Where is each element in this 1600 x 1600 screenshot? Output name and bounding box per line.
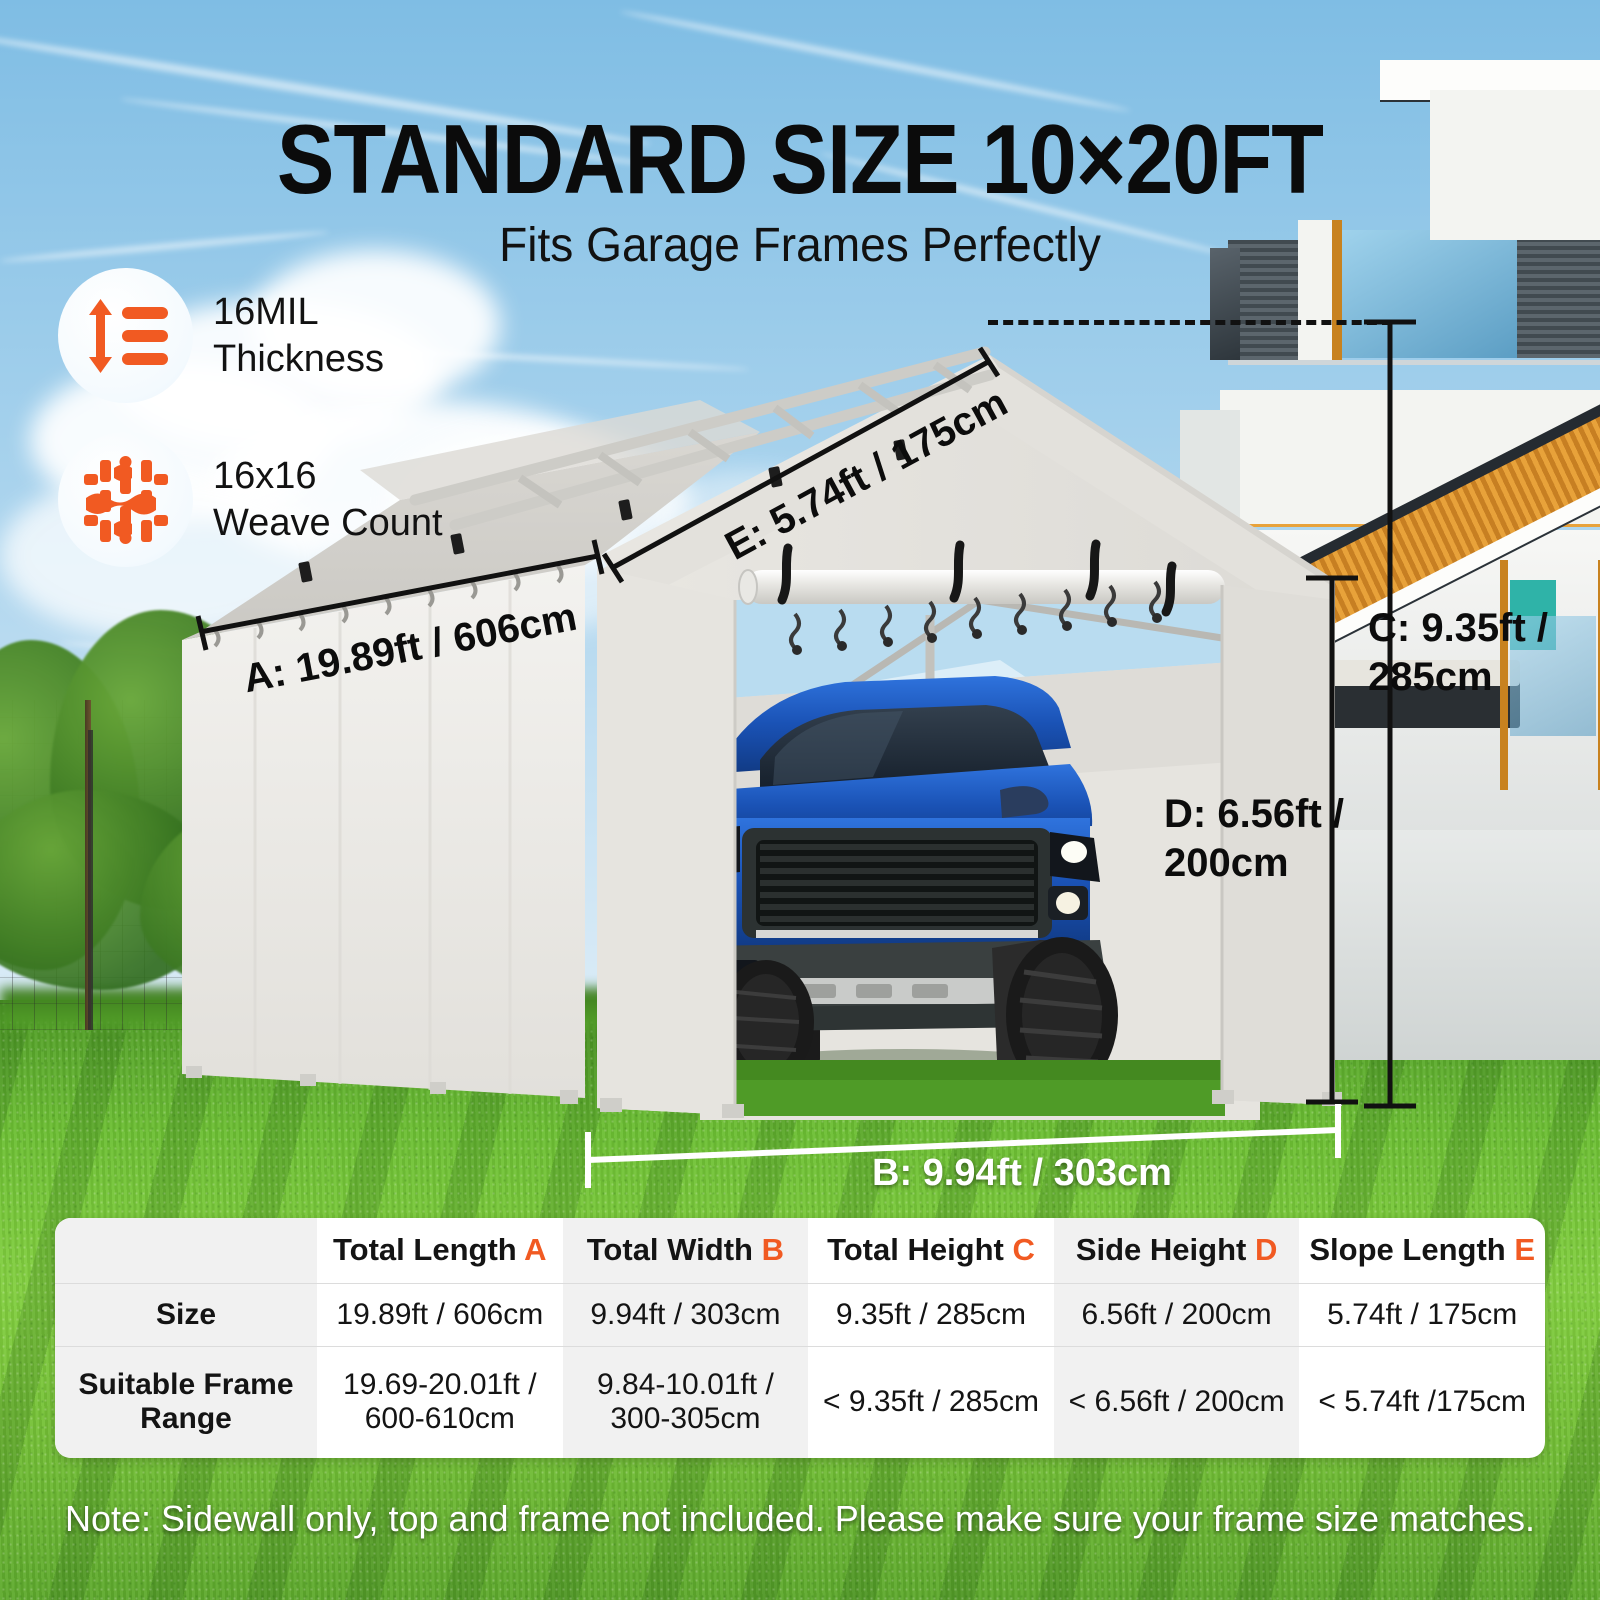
- feature-badge-weave: 16x16 Weave Count: [58, 432, 443, 567]
- table-header-slope-length: Slope Length E: [1299, 1218, 1545, 1283]
- row-label-frame-range: Suitable Frame Range: [55, 1346, 317, 1458]
- accent-letter-d: D: [1255, 1232, 1277, 1267]
- weave-badge-line1: 16x16: [213, 453, 443, 499]
- dimension-label-d-line1: D: 6.56ft /: [1164, 790, 1344, 839]
- range-slope-length: < 5.74ft /175cm: [1299, 1346, 1545, 1458]
- dimension-label-c-line2: 285cm: [1368, 653, 1548, 702]
- feature-badge-thickness: 16MIL Thickness: [58, 268, 384, 403]
- footer-note: Note: Sidewall only, top and frame not i…: [0, 1498, 1600, 1540]
- row-label-size: Size: [55, 1283, 317, 1346]
- weave-pattern-icon: [80, 454, 172, 546]
- table-header-total-length: Total Length A: [317, 1218, 563, 1283]
- dimension-label-c-line1: C: 9.35ft /: [1368, 604, 1548, 653]
- accent-letter-c: C: [1013, 1232, 1035, 1267]
- ridge-leader-dashed-line: [988, 320, 1392, 325]
- dimension-label-d-line2: 200cm: [1164, 839, 1344, 888]
- table-header-row: Total Length A Total Width B Total Heigh…: [55, 1218, 1545, 1283]
- range-total-height: < 9.35ft / 285cm: [808, 1346, 1054, 1458]
- size-total-length: 19.89ft / 606cm: [317, 1283, 563, 1346]
- table-row-frame-range: Suitable Frame Range 19.69-20.01ft / 600…: [55, 1346, 1545, 1458]
- table-header-corner: [55, 1218, 317, 1283]
- dimension-label-b: B: 9.94ft / 303cm: [872, 1152, 1172, 1195]
- thickness-badge-line2: Thickness: [213, 336, 384, 382]
- spec-table: Total Length A Total Width B Total Heigh…: [55, 1218, 1545, 1458]
- size-total-height: 9.35ft / 285cm: [808, 1283, 1054, 1346]
- size-total-width: 9.94ft / 303cm: [563, 1283, 809, 1346]
- thickness-badge-circle: [58, 268, 193, 403]
- thickness-arrow-icon: [82, 297, 170, 375]
- range-total-length: 19.69-20.01ft / 600-610cm: [317, 1346, 563, 1458]
- range-total-width: 9.84-10.01ft / 300-305cm: [563, 1346, 809, 1458]
- accent-letter-a: A: [524, 1232, 546, 1267]
- dimension-label-c: C: 9.35ft / 285cm: [1368, 604, 1548, 702]
- table-header-total-height: Total Height C: [808, 1218, 1054, 1283]
- thickness-badge-text: 16MIL Thickness: [213, 289, 384, 382]
- weave-badge-circle: [58, 432, 193, 567]
- size-side-height: 6.56ft / 200cm: [1054, 1283, 1300, 1346]
- table-header-total-width: Total Width B: [563, 1218, 809, 1283]
- accent-letter-b: B: [762, 1232, 784, 1267]
- dimension-label-d: D: 6.56ft / 200cm: [1164, 790, 1344, 888]
- infographic-canvas: STANDARD SIZE 10×20FT Fits Garage Frames…: [0, 0, 1600, 1600]
- table-row-size: Size 19.89ft / 606cm 9.94ft / 303cm 9.35…: [55, 1283, 1545, 1346]
- thickness-badge-line1: 16MIL: [213, 289, 384, 335]
- table-header-side-height: Side Height D: [1054, 1218, 1300, 1283]
- page-subtitle: Fits Garage Frames Perfectly: [32, 218, 1568, 273]
- page-title: STANDARD SIZE 10×20FT: [96, 110, 1504, 208]
- range-side-height: < 6.56ft / 200cm: [1054, 1346, 1300, 1458]
- accent-letter-e: E: [1514, 1232, 1535, 1267]
- weave-badge-line2: Weave Count: [213, 500, 443, 546]
- weave-badge-text: 16x16 Weave Count: [213, 453, 443, 546]
- size-slope-length: 5.74ft / 175cm: [1299, 1283, 1545, 1346]
